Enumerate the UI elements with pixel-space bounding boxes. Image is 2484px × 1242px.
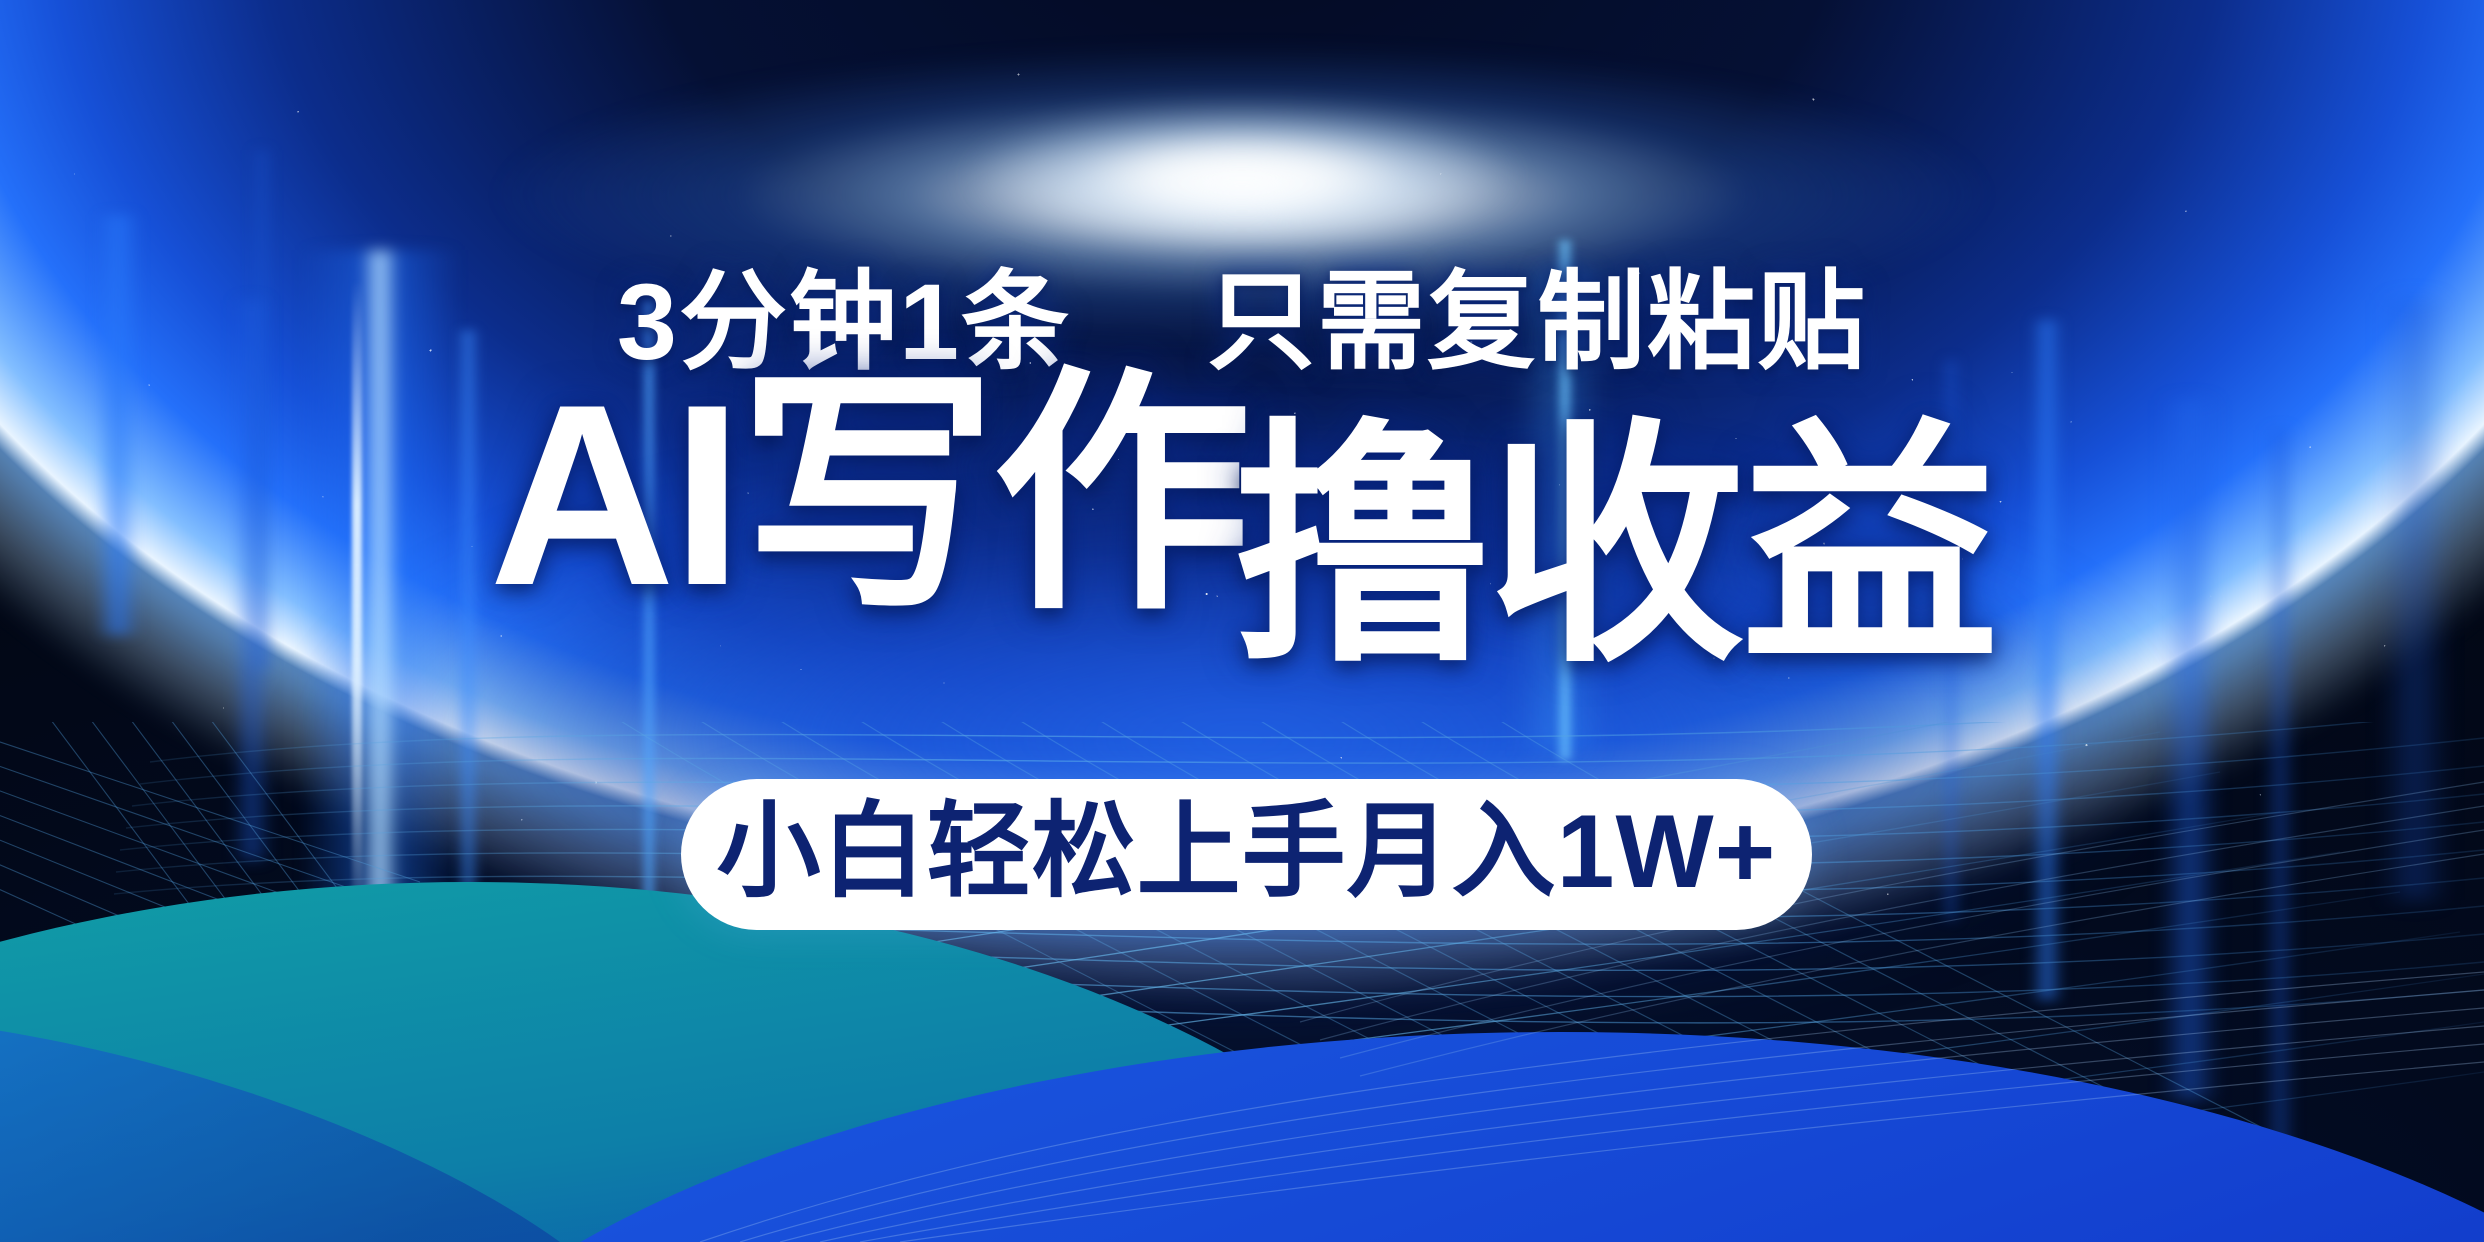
headline-segment-2: 撸收益 bbox=[1233, 428, 1995, 665]
headline-segment-1: AI写作 bbox=[489, 376, 1247, 613]
main-headline: AI写作撸收益 bbox=[0, 382, 2484, 682]
benefit-pill: 小白轻松上手月入1W+ bbox=[681, 779, 1812, 930]
benefit-pill-label: 小白轻松上手月入1W+ bbox=[717, 800, 1777, 904]
tagline-part-2: 只需复制粘贴 bbox=[1207, 261, 1867, 382]
horizon-bloom-hotspot bbox=[962, 103, 1522, 253]
poster-canvas: 3分钟1条 只需复制粘贴 AI写作撸收益 小白轻松上手月入1W+ bbox=[0, 0, 2484, 1242]
